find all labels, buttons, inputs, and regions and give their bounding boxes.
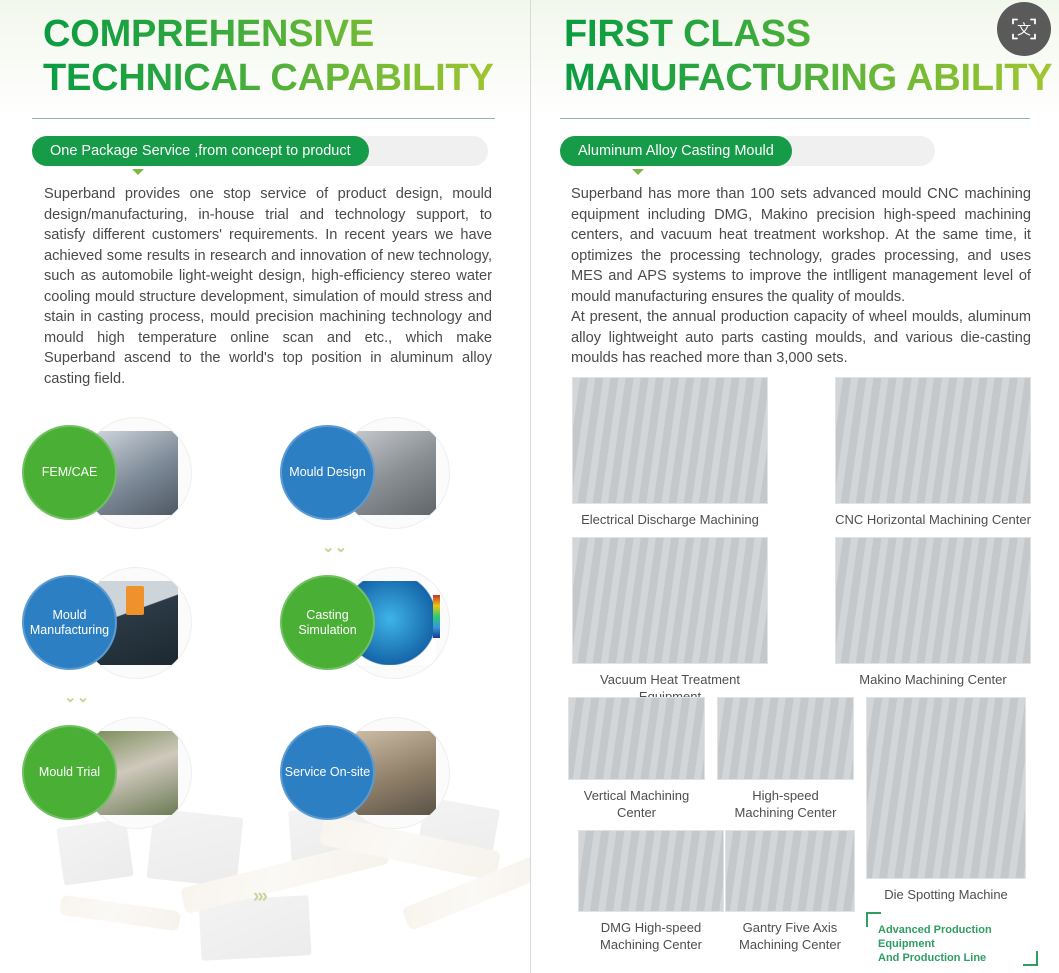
gallery-image [835, 377, 1031, 504]
flow-node-mould-manufacturing[interactable]: Mould Manufacturing [22, 575, 212, 695]
left-body-text: Superband provides one stop service of p… [44, 184, 492, 389]
right-badge-group: Aluminum Alloy Casting Mould [560, 136, 935, 166]
gallery-caption: Gantry Five Axis Machining Center [725, 919, 855, 953]
gallery-item-high-speed-machining-center[interactable]: High-speed Machining Center [717, 697, 854, 821]
promo-page: COMPREHENSIVE TECHNICAL CAPABILITY One P… [0, 0, 1059, 973]
flow-node-mould-trial[interactable]: Mould Trial [22, 725, 212, 845]
translate-glyph: 文 [1017, 23, 1031, 39]
gallery-caption: DMG High-speed Machining Center [578, 919, 724, 953]
gallery-item-dmg-high-speed-machining-center[interactable]: DMG High-speed Machining Center [578, 830, 724, 953]
flow-arrow-right-1: ››› [253, 886, 266, 908]
gallery-caption: CNC Horizontal Machining Center [835, 511, 1031, 528]
left-badge-group: One Package Service ,from concept to pro… [32, 136, 488, 166]
gallery-item-electrical-discharge-machining[interactable]: Electrical Discharge Machining [572, 377, 768, 528]
right-panel-heading: FIRST CLASS MANUFACTURING ABILITY [564, 0, 1059, 100]
left-panel-heading: COMPREHENSIVE TECHNICAL CAPABILITY [43, 0, 513, 100]
gallery-caption: Die Spotting Machine [866, 886, 1026, 903]
left-panel: COMPREHENSIVE TECHNICAL CAPABILITY One P… [0, 0, 530, 973]
gallery-item-makino-machining-center[interactable]: Makino Machining Center [835, 537, 1031, 688]
right-body-paragraph-2: At present, the annual production capaci… [571, 307, 1031, 369]
translate-scan-icon: 文 [1010, 15, 1038, 43]
gallery-image [568, 697, 705, 780]
advanced-production-note-text: Advanced Production Equipment And Produc… [878, 923, 1028, 965]
gallery-caption: Vertical Machining Center [568, 787, 705, 821]
flow-node-service-on-site[interactable]: Service On-site [280, 725, 470, 845]
gallery-image [866, 697, 1026, 879]
right-body-text: Superband has more than 100 sets advance… [571, 184, 1031, 369]
gallery-image [725, 830, 855, 912]
flow-node-label: Mould Manufacturing [22, 575, 117, 670]
flow-node-casting-simulation[interactable]: Casting Simulation [280, 575, 470, 695]
right-body-paragraph-1: Superband has more than 100 sets advance… [571, 184, 1031, 307]
flow-node-label: Service On-site [280, 725, 375, 820]
flow-node-mould-design[interactable]: Mould Design [280, 425, 470, 545]
gallery-caption: Electrical Discharge Machining [572, 511, 768, 528]
translate-button[interactable]: 文 [997, 2, 1051, 56]
flow-arrow-down-2: ⌄⌄ [64, 693, 89, 702]
flow-node-label: FEM/CAE [22, 425, 117, 520]
gallery-image [572, 377, 768, 504]
left-badge-caret-icon [132, 169, 144, 175]
right-heading-rule [560, 118, 1030, 119]
gallery-image [578, 830, 724, 912]
gallery-item-die-spotting-machine[interactable]: Die Spotting Machine [866, 697, 1026, 903]
gallery-caption: Makino Machining Center [835, 671, 1031, 688]
process-flow-diagram: FEM/CAE ››› Mould Design ⌄⌄ Mould Manufa… [0, 415, 530, 885]
gallery-item-vacuum-heat-treatment-equipment[interactable]: Vacuum Heat Treatment Equipment [572, 537, 768, 705]
gallery-image [572, 537, 768, 664]
gallery-caption: High-speed Machining Center [717, 787, 854, 821]
gallery-item-gantry-five-axis-machining-center[interactable]: Gantry Five Axis Machining Center [725, 830, 855, 953]
flow-arrow-down-1: ⌄⌄ [322, 543, 347, 552]
advanced-production-note: Advanced Production Equipment And Produc… [866, 912, 1038, 966]
gallery-item-vertical-machining-center[interactable]: Vertical Machining Center [568, 697, 705, 821]
right-panel: FIRST CLASS MANUFACTURING ABILITY Alumin… [531, 0, 1059, 973]
left-heading-rule [32, 118, 495, 119]
flow-node-label: Mould Design [280, 425, 375, 520]
gallery-item-cnc-horizontal-machining-center[interactable]: CNC Horizontal Machining Center [835, 377, 1031, 528]
gallery-image [717, 697, 854, 780]
right-badge-label: Aluminum Alloy Casting Mould [560, 136, 792, 166]
flow-node-fem-cae[interactable]: FEM/CAE [22, 425, 212, 545]
gallery-image [835, 537, 1031, 664]
left-badge-label: One Package Service ,from concept to pro… [32, 136, 369, 166]
right-badge-caret-icon [632, 169, 644, 175]
flow-node-label: Casting Simulation [280, 575, 375, 670]
flow-node-label: Mould Trial [22, 725, 117, 820]
